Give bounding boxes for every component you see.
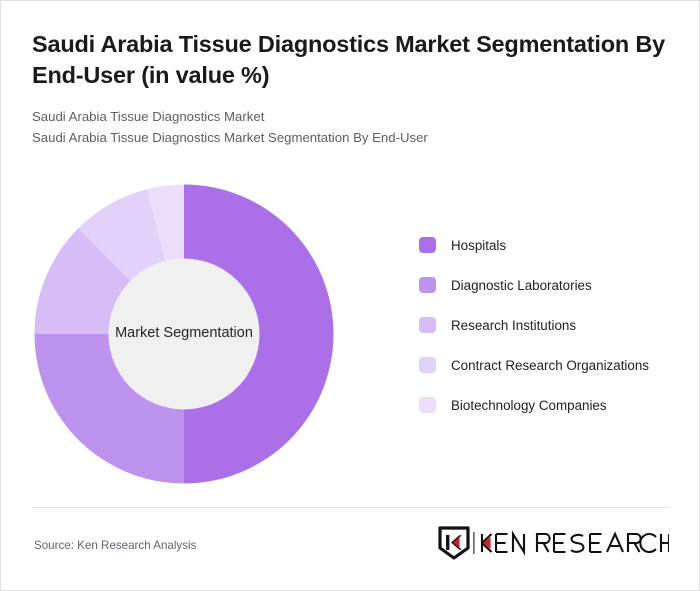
breadcrumb: Saudi Arabia Tissue Diagnostics Market S… [32, 106, 672, 149]
chart-area: Market Segmentation HospitalsDiagnostic … [1, 169, 700, 499]
ken-research-shield-icon [438, 526, 470, 560]
footer-divider [32, 507, 670, 508]
legend-swatch [419, 397, 436, 413]
chart-legend: HospitalsDiagnostic LaboratoriesResearch… [419, 236, 674, 436]
legend-label: Diagnostic Laboratories [451, 276, 592, 295]
legend-item[interactable]: Contract Research Organizations [419, 356, 674, 375]
donut-center-hole [109, 259, 260, 410]
subtitle-market: Saudi Arabia Tissue Diagnostics Market [32, 106, 672, 127]
chart-card: Saudi Arabia Tissue Diagnostics Market S… [0, 0, 700, 591]
legend-swatch [419, 237, 436, 253]
donut-chart: Market Segmentation [34, 184, 334, 484]
legend-item[interactable]: Diagnostic Laboratories [419, 276, 674, 295]
ken-research-logo [438, 526, 669, 560]
legend-item[interactable]: Hospitals [419, 236, 674, 255]
legend-swatch [419, 277, 436, 293]
legend-item[interactable]: Biotechnology Companies [419, 396, 674, 415]
legend-label: Research Institutions [451, 316, 576, 335]
ken-research-wordmark [473, 530, 669, 556]
legend-item[interactable]: Research Institutions [419, 316, 674, 335]
legend-swatch [419, 317, 436, 333]
legend-label: Hospitals [451, 236, 506, 255]
legend-label: Contract Research Organizations [451, 356, 649, 375]
donut-chart-svg [34, 184, 334, 484]
legend-swatch [419, 357, 436, 373]
source-note: Source: Ken Research Analysis [34, 539, 196, 552]
legend-label: Biotechnology Companies [451, 396, 607, 415]
subtitle-segmentation: Saudi Arabia Tissue Diagnostics Market S… [32, 127, 672, 148]
chart-header: Saudi Arabia Tissue Diagnostics Market S… [32, 29, 672, 148]
page-title: Saudi Arabia Tissue Diagnostics Market S… [32, 29, 667, 92]
